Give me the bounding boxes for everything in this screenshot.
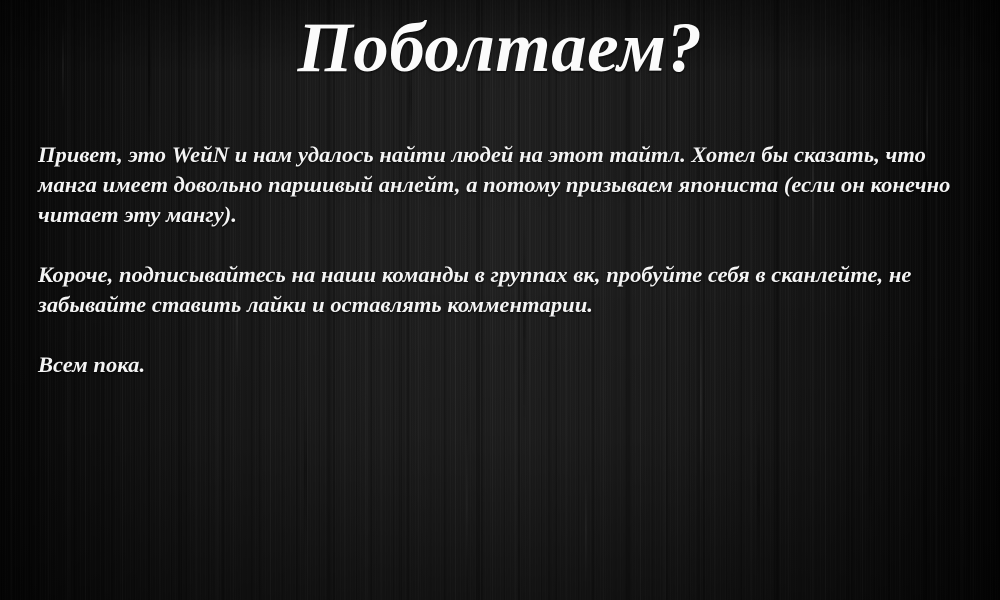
paragraph-farewell-text: Всем пока. (38, 352, 145, 377)
paragraph-farewell: Всем пока. (38, 350, 438, 380)
body-text-block: Привет, это WeйN и нам удалось найти люд… (38, 140, 978, 380)
paragraph-call-to-action-text: Короче, подписывайтесь на наши команды в… (38, 262, 911, 317)
slide-content: Поболтаем? Привет, это WeйN и нам удалос… (0, 0, 1000, 600)
paragraph-intro: Привет, это WeйN и нам удалось найти люд… (38, 140, 976, 230)
page-title: Поболтаем? (0, 9, 1000, 89)
paragraph-intro-text: Привет, это WeйN и нам удалось найти люд… (38, 142, 950, 227)
scanlation-afterword-slide: Поболтаем? Привет, это WeйN и нам удалос… (0, 0, 1000, 600)
paragraph-call-to-action: Короче, подписывайтесь на наши команды в… (38, 260, 943, 320)
